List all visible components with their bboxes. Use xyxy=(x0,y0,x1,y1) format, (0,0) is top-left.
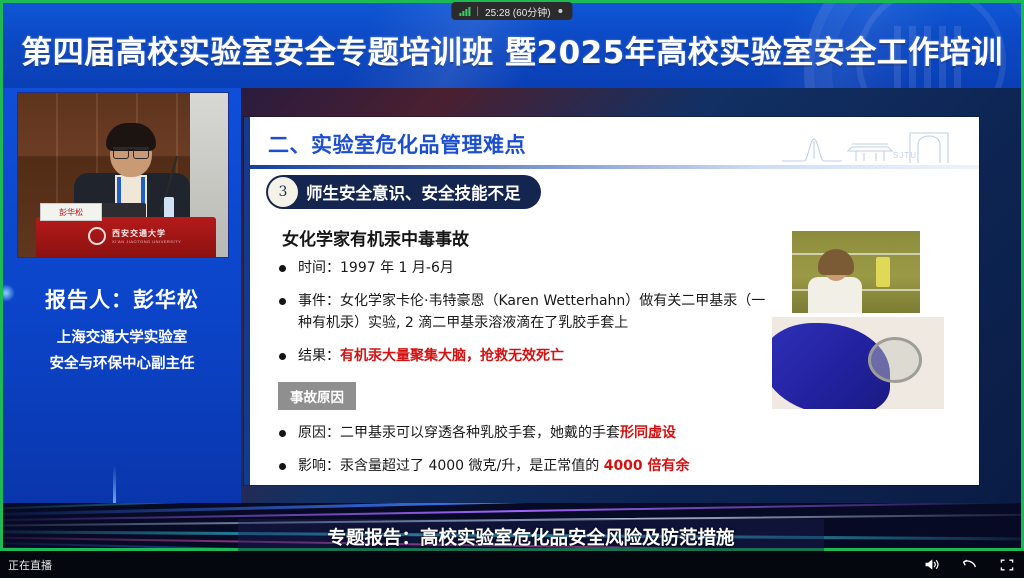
bullet-list-top: 时间：1997 年 1 月-6月 事件：女化学家卡伦·韦特豪恩（Karen We… xyxy=(276,257,776,378)
rotate-back-icon[interactable] xyxy=(960,556,978,574)
bullet-text: 1997 年 1 月-6月 xyxy=(340,260,454,276)
badge-number: 3 xyxy=(268,177,298,207)
bullet-label: 事件： xyxy=(298,293,340,309)
bullet-text: 二甲基汞可以穿透各种乳胶手套，她戴的手套 xyxy=(340,425,620,441)
speaker-nameplate: 彭华松 xyxy=(40,203,102,221)
bullet-list-bottom: 原因：二甲基汞可以穿透各种乳胶手套，她戴的手套形同虚设 影响：汞含量超过了 40… xyxy=(276,422,776,485)
svg-text:SJTU: SJTU xyxy=(893,151,917,160)
live-status-label: 正在直播 xyxy=(8,557,52,573)
university-logo-icon xyxy=(88,227,106,245)
speaker-panel: 西安交通大学 XI'AN JIAOTONG UNIVERSITY 彭华松 报告人… xyxy=(3,88,241,503)
presentation-area[interactable]: 二、实验室危化品管理难点 SJTU 3 师生安全意识、安全技能不足 女化学 xyxy=(241,88,1021,503)
bullet-highlight: 4000 倍有余 xyxy=(604,458,690,474)
bullet-label: 原因： xyxy=(298,425,340,441)
status-separator: | xyxy=(476,6,479,17)
speaker-affiliation-line1: 上海交通大学实验室 xyxy=(3,325,241,351)
speaker-affiliation: 上海交通大学实验室 安全与环保中心副主任 xyxy=(3,325,241,377)
bullet-highlight: 有机汞大量聚集大脑，抢救无效死亡 xyxy=(340,348,564,364)
volume-icon[interactable] xyxy=(922,556,940,574)
bullet-label: 时间： xyxy=(298,260,340,276)
bullet-highlight: 形同虚设 xyxy=(620,425,676,441)
gloved-hand-photo xyxy=(768,313,948,413)
bottom-ticker-banner: 专题报告：高校实验室危化品安全风险及防范措施 xyxy=(238,519,824,555)
dot-icon[interactable] xyxy=(557,7,565,15)
badge-label: 师生安全意识、安全技能不足 xyxy=(306,180,521,204)
glasses-icon xyxy=(113,147,149,155)
live-stream-player: 第四届高校实验室安全专题培训班 暨2025年高校实验室安全工作培训 | 25:2… xyxy=(0,0,1024,578)
presentation-slide: 二、实验室危化品管理难点 SJTU 3 师生安全意识、安全技能不足 女化学 xyxy=(244,117,979,485)
water-bottle xyxy=(164,197,174,219)
sjtu-landmark-icon: SJTU xyxy=(780,125,955,167)
slide-title: 二、实验室危化品管理难点 xyxy=(268,129,526,159)
podium-banner-subtext: XI'AN JIAOTONG UNIVERSITY xyxy=(112,239,181,244)
list-item: 时间：1997 年 1 月-6月 xyxy=(276,257,776,279)
list-item: 原因：二甲基汞可以穿透各种乳胶手套，她戴的手套形同虚设 xyxy=(276,422,776,444)
list-item: 影响：汞含量超过了 4000 微克/升，是正常值的 4000 倍有余 xyxy=(276,455,776,477)
bullet-text: 汞含量超过了 4000 微克/升，是正常值的 xyxy=(340,458,604,474)
status-pill[interactable]: | 25:28 (60分钟) xyxy=(451,2,572,20)
page-title: 第四届高校实验室安全专题培训班 暨2025年高校实验室安全工作培训 xyxy=(0,27,1024,72)
player-control-bar: 正在直播 xyxy=(0,551,1024,578)
speaker-name: 报告人：彭华松 xyxy=(3,284,241,314)
ticker-text: 专题报告：高校实验室危化品安全风险及防范措施 xyxy=(327,524,734,550)
case-study-title: 女化学家有机汞中毒事故 xyxy=(282,225,469,250)
signal-bars-icon xyxy=(459,7,470,16)
decorative-ray xyxy=(113,465,116,503)
list-item: 结果：有机汞大量聚集大脑，抢救无效死亡 xyxy=(276,345,776,367)
section-badge: 3 师生安全意识、安全技能不足 xyxy=(266,175,541,209)
list-item: 事件：女化学家卡伦·韦特豪恩（Karen Wetterhahn）做有关二甲基汞（… xyxy=(276,290,776,334)
speaker-affiliation-line2: 安全与环保中心副主任 xyxy=(3,351,241,377)
session-timer: 25:28 (60分钟) xyxy=(485,4,551,19)
podium-banner: 西安交通大学 XI'AN JIAOTONG UNIVERSITY xyxy=(36,217,216,257)
bullet-label: 影响： xyxy=(298,458,340,474)
fullscreen-icon[interactable] xyxy=(998,556,1016,574)
cause-tag: 事故原因 xyxy=(278,382,356,410)
speaker-camera-feed[interactable]: 西安交通大学 XI'AN JIAOTONG UNIVERSITY 彭华松 xyxy=(17,92,229,258)
slide-accent-bar xyxy=(244,117,250,485)
podium-banner-text: 西安交通大学 xyxy=(112,228,166,239)
speaker-nameplate-text: 彭华松 xyxy=(41,204,101,221)
bullet-label: 结果： xyxy=(298,348,340,364)
player-controls xyxy=(922,551,1016,578)
bullet-text: 女化学家卡伦·韦特豪恩（Karen Wetterhahn）做有关二甲基汞（一种有… xyxy=(298,293,765,331)
